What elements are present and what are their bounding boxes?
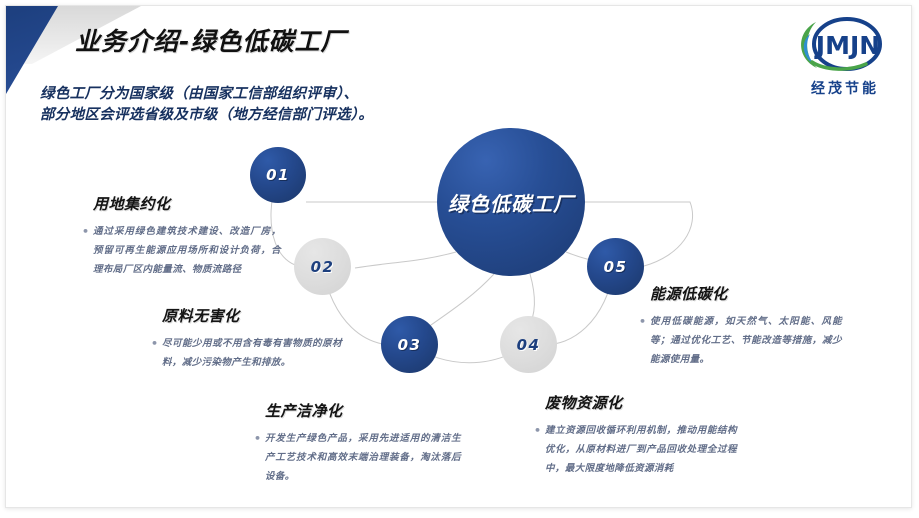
node-04-label: 04 xyxy=(517,336,541,354)
bullet-icon: • xyxy=(151,334,158,353)
node-04[interactable]: 04 xyxy=(500,316,557,373)
block-heading-energy: 能源低碳化 xyxy=(650,283,842,304)
block-heading-land: 用地集约化 xyxy=(93,193,281,214)
node-05-label: 05 xyxy=(604,258,628,276)
block-heading-material: 原料无害化 xyxy=(162,305,342,326)
content-block-waste: 废物资源化 • 建立资源回收循环利用机制，推动用能结构优化，从原材料进厂到产品回… xyxy=(545,392,737,478)
bullet-icon: • xyxy=(254,429,261,448)
block-body-production-text: 开发生产绿色产品，采用先进适用的清洁生产工艺技术和高效末端治理装备，淘汰落后设备… xyxy=(265,433,461,482)
bullet-icon: • xyxy=(534,421,541,440)
block-body-material: • 尽可能少用或不用含有毒有害物质的原材料，减少污染物产生和排放。 xyxy=(162,334,342,372)
node-02[interactable]: 02 xyxy=(294,238,351,295)
block-body-land: • 通过采用绿色建筑技术建设、改造厂房，预留可再生能源应用场所和设计负荷，合理布… xyxy=(93,222,281,279)
block-body-production: • 开发生产绿色产品，采用先进适用的清洁生产工艺技术和高效末端治理装备，淘汰落后… xyxy=(265,429,461,486)
node-03[interactable]: 03 xyxy=(381,316,438,373)
block-heading-waste: 废物资源化 xyxy=(545,392,737,413)
slide-canvas: 业务介绍-绿色低碳工厂 绿色工厂分为国家级（由国家工信部组织评审）、 部分地区会… xyxy=(0,0,919,518)
bullet-icon: • xyxy=(639,312,646,331)
node-02-label: 02 xyxy=(311,258,335,276)
block-body-waste: • 建立资源回收循环利用机制，推动用能结构优化，从原材料进厂到产品回收处理全过程… xyxy=(545,421,737,478)
spoke-center-03 xyxy=(424,274,494,330)
block-body-energy-text: 使用低碳能源，如天然气、太阳能、风能等；通过优化工艺、节能改造等措施，减少能源使… xyxy=(650,316,842,365)
content-block-land: 用地集约化 • 通过采用绿色建筑技术建设、改造厂房，预留可再生能源应用场所和设计… xyxy=(93,193,281,279)
block-body-material-text: 尽可能少用或不用含有毒有害物质的原材料，减少污染物产生和排放。 xyxy=(162,338,342,368)
center-node-label: 绿色低碳工厂 xyxy=(448,188,574,217)
block-heading-production: 生产洁净化 xyxy=(265,400,461,421)
node-03-label: 03 xyxy=(398,336,422,354)
content-block-energy: 能源低碳化 • 使用低碳能源，如天然气、太阳能、风能等；通过优化工艺、节能改造等… xyxy=(650,283,842,369)
node-01-label: 01 xyxy=(266,166,290,184)
center-node[interactable]: 绿色低碳工厂 xyxy=(437,128,585,276)
content-block-production: 生产洁净化 • 开发生产绿色产品，采用先进适用的清洁生产工艺技术和高效末端治理装… xyxy=(265,400,461,486)
block-body-land-text: 通过采用绿色建筑技术建设、改造厂房，预留可再生能源应用场所和设计负荷，合理布局厂… xyxy=(93,226,281,275)
node-05[interactable]: 05 xyxy=(587,238,644,295)
block-body-waste-text: 建立资源回收循环利用机制，推动用能结构优化，从原材料进厂到产品回收处理全过程中，… xyxy=(545,425,737,474)
block-body-energy: • 使用低碳能源，如天然气、太阳能、风能等；通过优化工艺、节能改造等措施，减少能… xyxy=(650,312,842,369)
bullet-icon: • xyxy=(82,222,89,241)
content-block-material: 原料无害化 • 尽可能少用或不用含有毒有害物质的原材料，减少污染物产生和排放。 xyxy=(162,305,342,372)
spoke-center-02 xyxy=(355,252,456,268)
